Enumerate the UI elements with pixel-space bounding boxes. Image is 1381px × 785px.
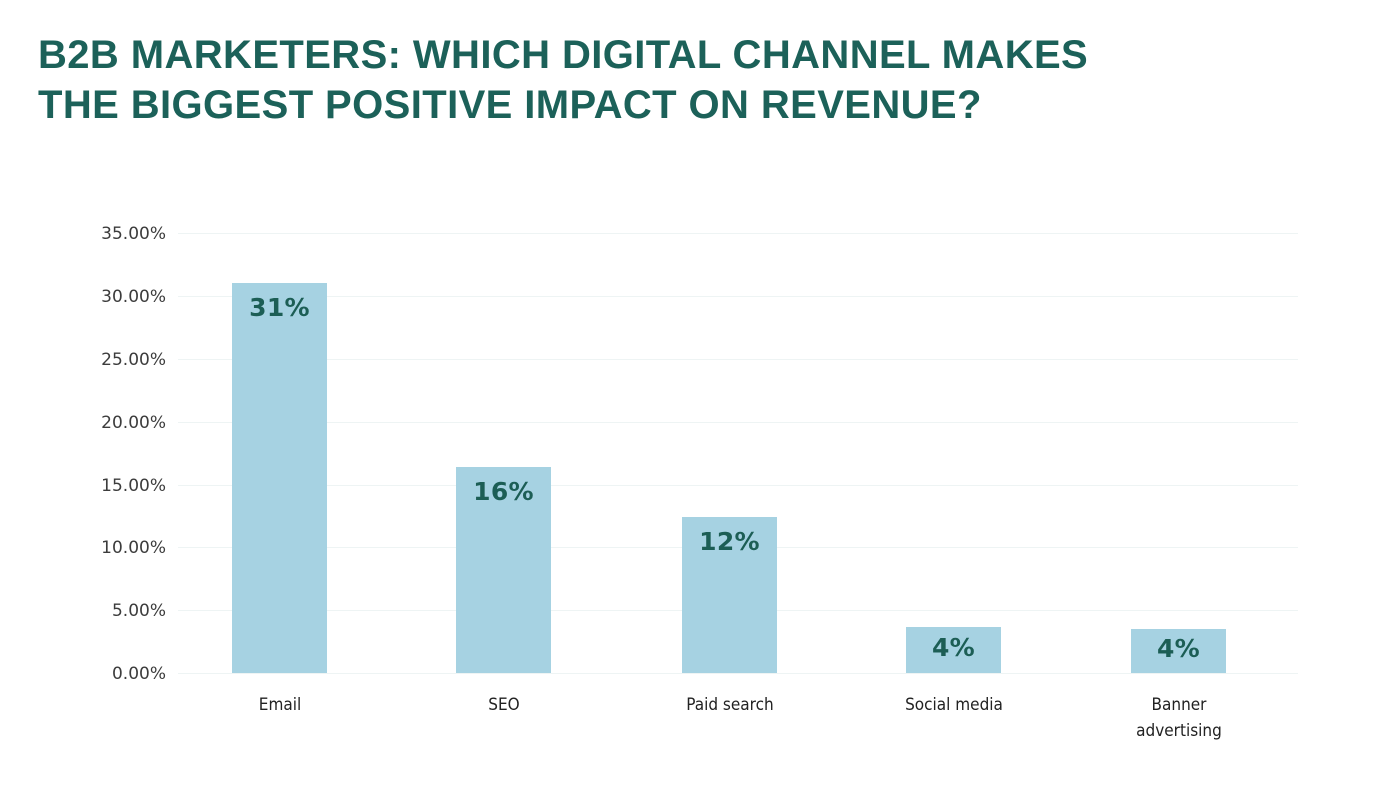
y-tick-15: 15.00% — [46, 476, 166, 496]
bar-value-seo: 16% — [456, 477, 551, 506]
bar-value-email: 31% — [232, 293, 327, 322]
x-label-seo: SEO — [414, 692, 594, 718]
y-tick-10: 10.00% — [46, 538, 166, 558]
bar-banner-advertising[interactable]: 4% — [1131, 629, 1226, 673]
y-tick-25: 25.00% — [46, 350, 166, 370]
bar-chart: 35.00% 30.00% 25.00% 20.00% 15.00% 10.00… — [0, 0, 1381, 785]
bar-value-banner-advertising: 4% — [1131, 634, 1226, 663]
gridline-0 — [178, 673, 1298, 674]
y-tick-20: 20.00% — [46, 413, 166, 433]
bar-value-paid-search: 12% — [682, 527, 777, 556]
gridline-35 — [178, 233, 1298, 234]
x-label-email: Email — [190, 692, 370, 718]
bar-paid-search[interactable]: 12% — [682, 517, 777, 673]
y-tick-30: 30.00% — [46, 287, 166, 307]
gridline-15 — [178, 485, 1298, 486]
bar-seo[interactable]: 16% — [456, 467, 551, 673]
gridline-25 — [178, 359, 1298, 360]
bar-email[interactable]: 31% — [232, 283, 327, 673]
bar-value-social-media: 4% — [906, 633, 1001, 662]
x-label-paid-search: Paid search — [640, 692, 820, 718]
y-tick-5: 5.00% — [46, 601, 166, 621]
bar-social-media[interactable]: 4% — [906, 627, 1001, 674]
gridline-20 — [178, 422, 1298, 423]
x-label-banner-advertising: Banner advertising — [1134, 692, 1224, 744]
x-label-social-media: Social media — [864, 692, 1044, 718]
y-tick-35: 35.00% — [46, 224, 166, 244]
y-tick-0: 0.00% — [46, 664, 166, 684]
gridline-30 — [178, 296, 1298, 297]
